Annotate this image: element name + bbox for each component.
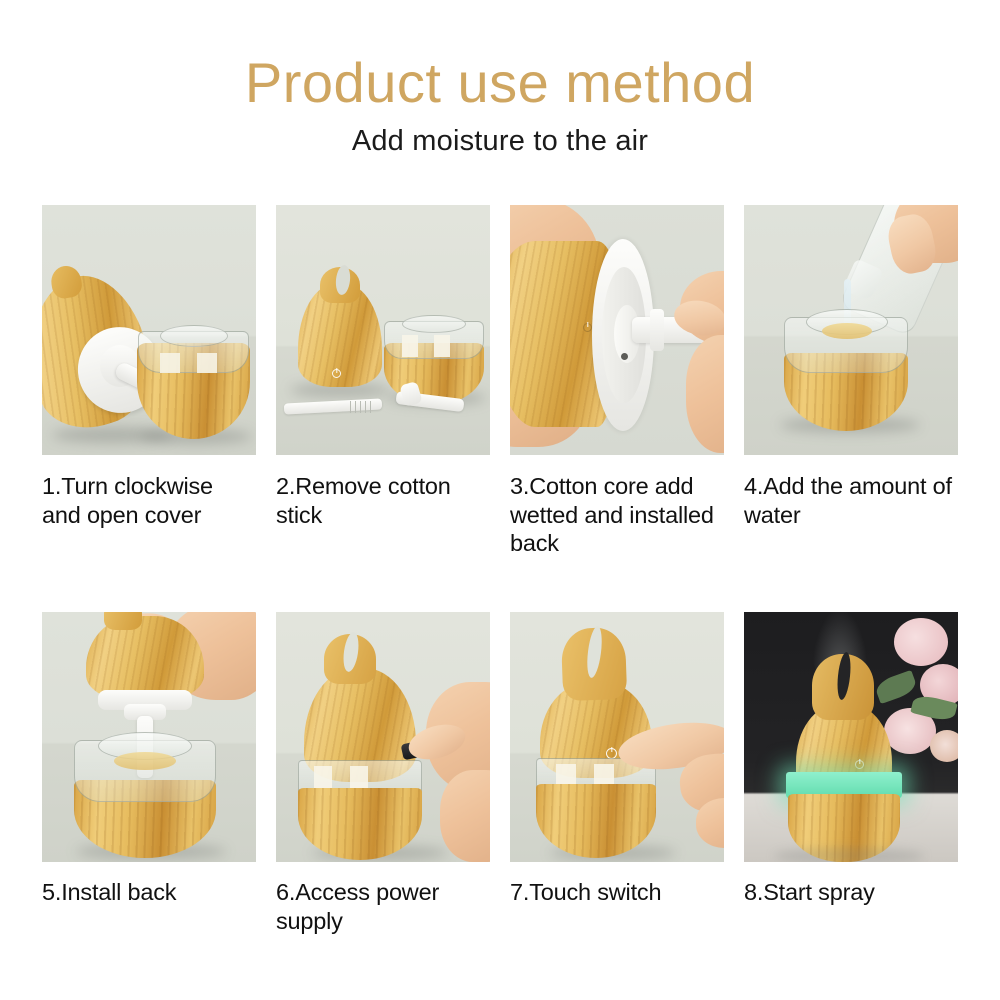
step-caption-2: 2.Remove cotton stick [276,472,490,529]
step-card-1: 1.Turn clockwise and open cover [42,205,256,558]
power-button-icon[interactable] [855,760,864,769]
power-button-icon[interactable] [332,369,341,378]
power-button-icon [583,323,592,332]
cotton-bristles [350,401,372,413]
flower [894,618,948,666]
flower-bud [930,730,958,762]
infographic-page: Product use method Add moisture to the a… [0,0,1000,1000]
step-card-4: 4.Add the amount of water [744,205,958,558]
step-caption-8: 8.Start spray [744,878,958,907]
step-photo-2 [276,205,490,455]
step-card-7: 7.Touch switch [510,612,724,935]
header: Product use method Add moisture to the a… [0,0,1000,158]
water-surface [822,323,872,339]
step-caption-5: 5.Install back [42,878,256,907]
step-card-6: 6.Access power supply [276,612,490,935]
step-card-8: 8.Start spray [744,612,958,935]
step-caption-4: 4.Add the amount of water [744,472,958,529]
steps-row-1: 1.Turn clockwise and open cover [42,205,958,558]
page-title: Product use method [0,54,1000,113]
step-photo-1 [42,205,256,455]
step-card-2: 2.Remove cotton stick [276,205,490,558]
step-card-5: 5.Install back [42,612,256,935]
step-photo-7 [510,612,724,862]
step-caption-1: 1.Turn clockwise and open cover [42,472,256,529]
step-caption-3: 3.Cotton core add wetted and installed b… [510,472,724,558]
step-caption-7: 7.Touch switch [510,878,724,907]
step-photo-6 [276,612,490,862]
step-card-3: 3.Cotton core add wetted and installed b… [510,205,724,558]
step-photo-3 [510,205,724,455]
step-photo-4 [744,205,958,455]
step-photo-5 [42,612,256,862]
cone-top [86,616,204,700]
step-caption-6: 6.Access power supply [276,878,490,935]
water-surface [114,752,176,770]
step-photo-8 [744,612,958,862]
page-subtitle: Add moisture to the air [0,125,1000,158]
steps-row-2: 5.Install back [42,612,958,935]
